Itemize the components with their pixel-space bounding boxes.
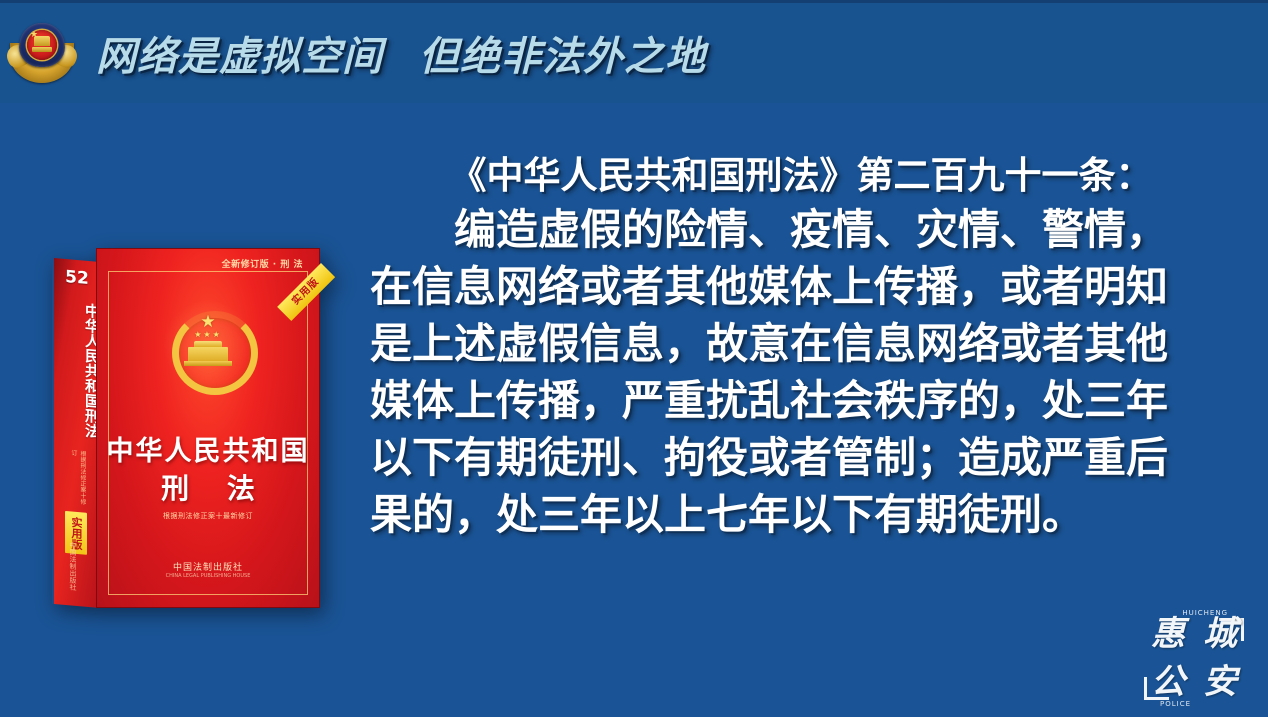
watermark-char-3: 公 [1151, 665, 1185, 699]
book-cover-topline: 全新修订版 · 刑 法 [222, 257, 303, 270]
watermark-characters: 惠 城 公 安 [1142, 610, 1246, 706]
law-line: 果的，处三年以上七年以下有期徒刑。 [370, 486, 1232, 543]
law-article-title: 《中华人民共和国刑法》第二百九十一条： [370, 151, 1232, 201]
book-cover: 全新修订版 · 刑 法 实用版 ★★★★ 中华人民共和国 刑 法 根据刑法修正案… [96, 248, 320, 608]
book-cover-title-line2: 刑 法 [97, 467, 319, 507]
book-spine-publisher: 中国法制出版社 [68, 541, 78, 598]
book-spine: 52 中华人民共和国刑法 根据刑法修正案十修订 实用版 中国法制出版社 [52, 258, 100, 608]
criminal-law-book-image: 52 中华人民共和国刑法 根据刑法修正案十修订 实用版 中国法制出版社 全新修订… [52, 248, 320, 608]
slide-canvas: 网络是虚拟空间 但绝非法外之地 52 中华人民共和国刑法 根据刑法修正案十修订 … [0, 0, 1268, 717]
emblem-tiananmen-gate [188, 347, 228, 363]
law-line: 在信息网络或者其他媒体上传播，或者明知 [370, 258, 1232, 315]
book-cover-publisher-sub: CHINA LEGAL PUBLISHING HOUSE [97, 573, 319, 579]
law-line: 媒体上传播，严重扰乱社会秩序的，处三年 [370, 372, 1232, 429]
header-band: 网络是虚拟空间 但绝非法外之地 [0, 3, 1268, 103]
watermark-char-1: 惠 [1151, 617, 1185, 651]
book-cover-publisher-name: 中国法制出版社 [173, 563, 243, 573]
watermark-char-2: 城 [1203, 617, 1237, 651]
huicheng-police-watermark: HUICHENG POLICE 惠 城 公 安 [1142, 610, 1246, 706]
law-line: 编造虚假的险情、疫情、灾情、警情， [370, 201, 1232, 258]
law-line: 以下有期徒刑、拘役或者管制；造成严重后 [370, 429, 1232, 486]
book-cover-title-line1: 中华人民共和国 [97, 429, 319, 468]
law-text-block: 《中华人民共和国刑法》第二百九十一条： 编造虚假的险情、疫情、灾情、警情， 在信… [370, 151, 1232, 543]
book-cover-subtitle: 根据刑法修正案十最新修订 [97, 511, 319, 521]
watermark-char-4: 安 [1203, 665, 1237, 699]
slogan-part-1: 网络是虚拟空间 [96, 24, 383, 82]
content-stage: 52 中华人民共和国刑法 根据刑法修正案十修订 实用版 中国法制出版社 全新修订… [0, 103, 1268, 717]
book-spine-title: 中华人民共和国刑法 [54, 292, 100, 446]
law-line: 是上述虚假信息，故意在信息网络或者其他 [370, 315, 1232, 372]
book-spine-number: 52 [54, 266, 100, 290]
emblem-stars: ★★★★ [164, 315, 252, 340]
slogan-part-2: 但绝非法外之地 [419, 24, 706, 82]
police-badge-icon [8, 19, 76, 87]
book-spine-subtitle: 根据刑法修正案十修订 [69, 449, 87, 507]
national-emblem-icon: ★★★★ [164, 301, 252, 389]
book-cover-publisher: 中国法制出版社 CHINA LEGAL PUBLISHING HOUSE [97, 560, 319, 579]
header-slogan: 网络是虚拟空间 但绝非法外之地 [96, 24, 706, 82]
